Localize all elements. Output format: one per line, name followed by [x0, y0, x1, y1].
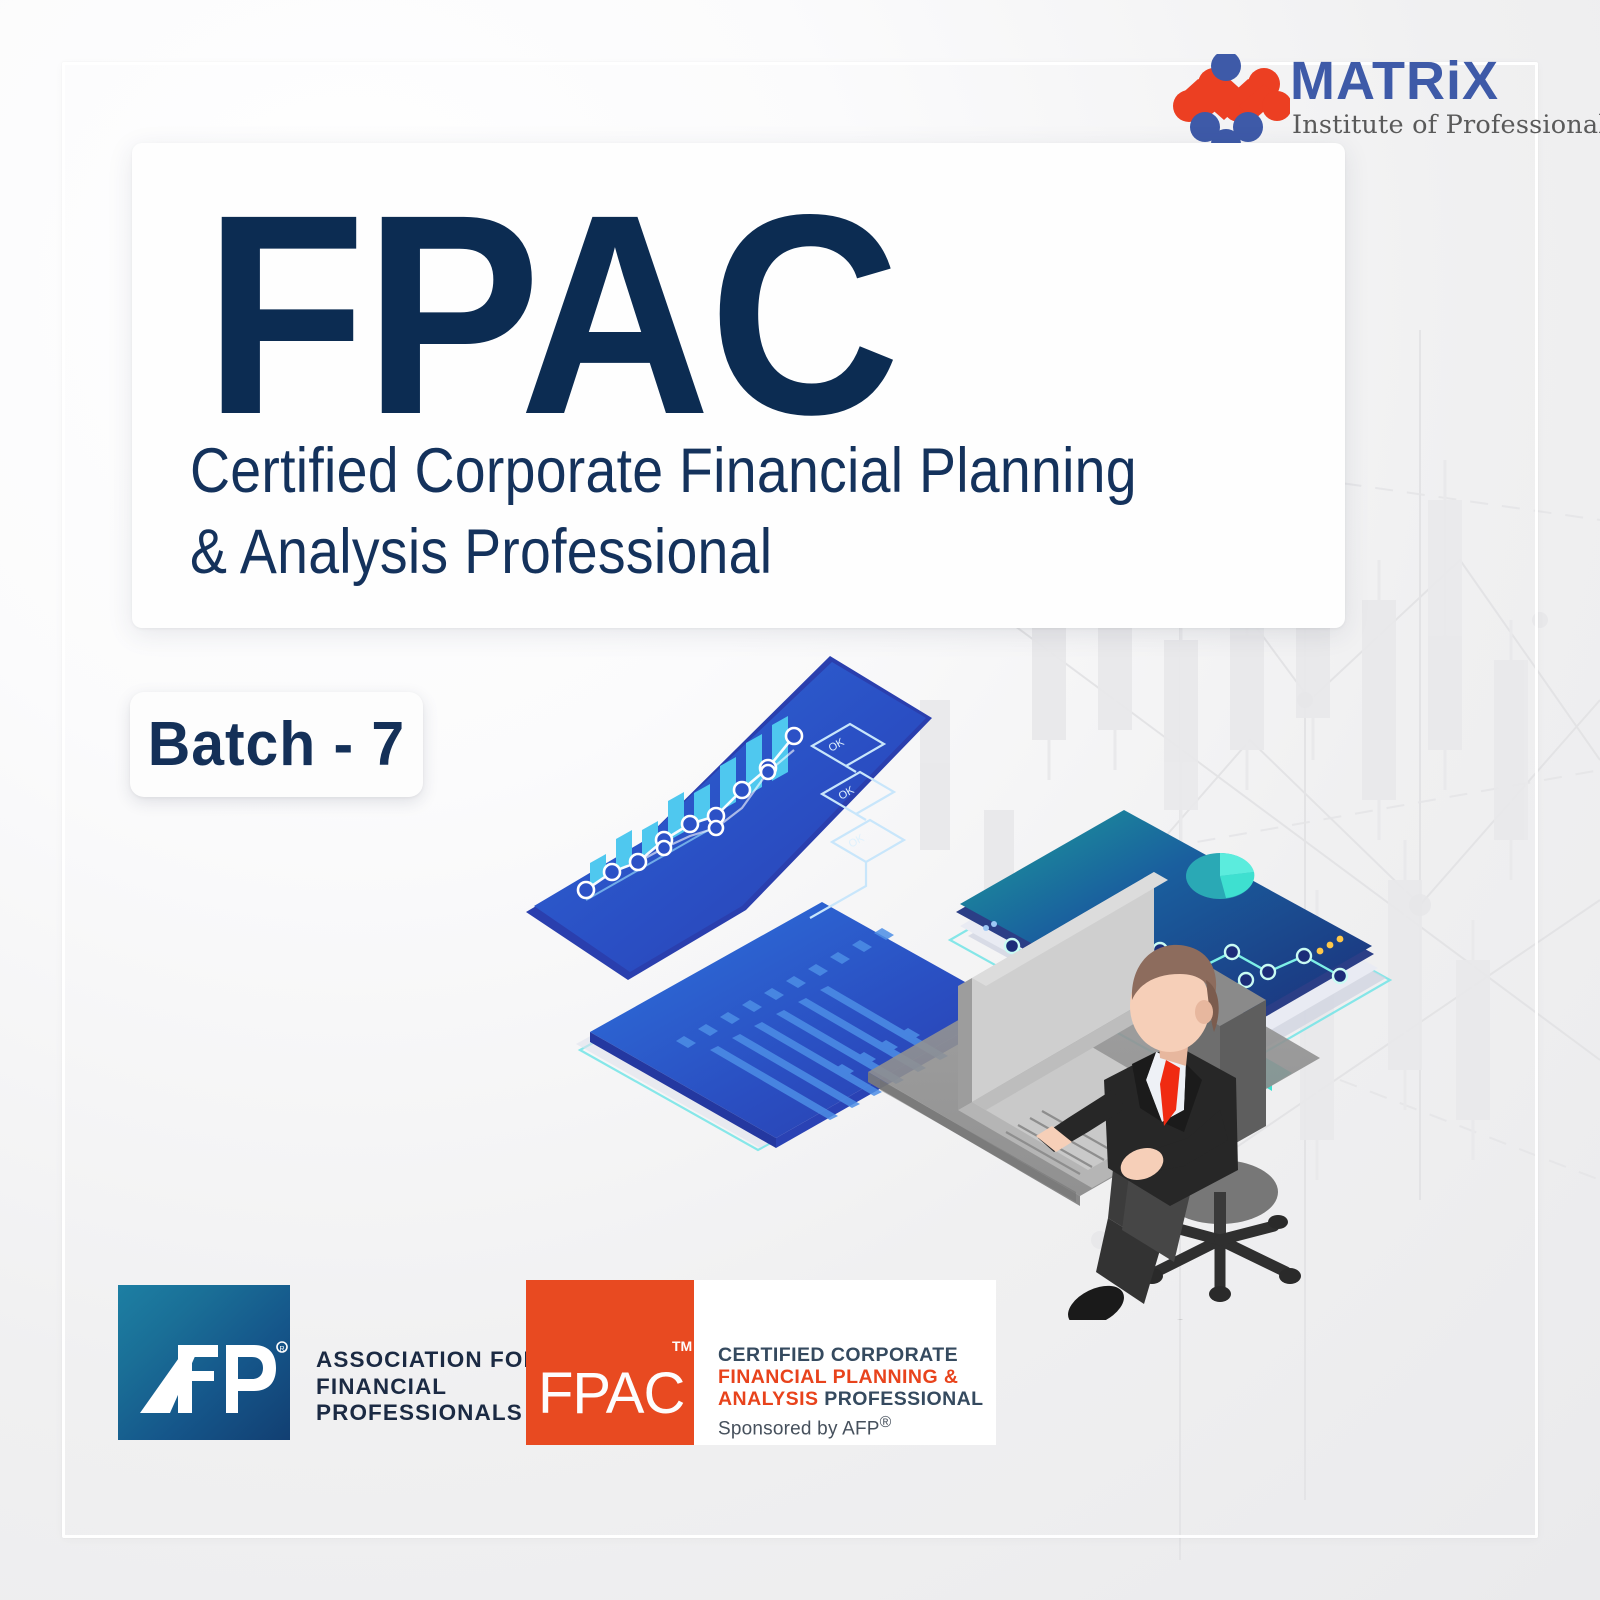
svg-text:OK: OK: [847, 832, 867, 851]
fpac-sponsor-label: Sponsored by AFP: [718, 1418, 880, 1439]
fpac-desc-line3-dark: PROFESSIONAL: [818, 1388, 983, 1410]
matrix-logo-mark: [1172, 54, 1290, 146]
page-subtitle: Certified Corporate Financial Planning &…: [190, 431, 1193, 593]
matrix-wordmark-text: MATRiX: [1290, 51, 1499, 111]
title-card: FPAC Certified Corporate Financial Plann…: [132, 143, 1345, 628]
batch-badge: Batch - 7: [130, 692, 423, 797]
fpac-logo-mark-text: FPAC: [538, 1360, 684, 1427]
afp-logo: R: [118, 1285, 290, 1440]
afp-logo-mark: R: [118, 1285, 290, 1440]
batch-badge-label: Batch - 7: [148, 709, 405, 780]
fpac-desc-line2: FINANCIAL PLANNING &: [718, 1366, 958, 1388]
fpac-certification-logo: FPAC TM CERTIFIED CORPORATE FINANCIAL PL…: [526, 1280, 996, 1445]
afp-organization-name: ASSOCIATION FOR FINANCIAL PROFESSIONALS: [316, 1347, 541, 1427]
tablet-pie-chart: [1186, 853, 1254, 899]
matrix-wordmark: MATRiX: [1290, 50, 1522, 112]
footer-logos: R ASSOCIATION FOR FINANCIAL PROFESSIONAL…: [118, 1285, 998, 1440]
matrix-logo: MATRiX Institute of Professionals: [1172, 50, 1520, 155]
matrix-tagline: Institute of Professionals: [1292, 110, 1600, 140]
fpac-description: CERTIFIED CORPORATE FINANCIAL PLANNING &…: [718, 1344, 1000, 1410]
fpac-sponsor-text: Sponsored by AFP®: [718, 1414, 892, 1440]
fpac-trademark-symbol: TM: [672, 1338, 692, 1354]
workspace-illustration: OK OK OK: [520, 640, 1480, 1320]
fpac-sponsor-registered: ®: [880, 1414, 892, 1431]
fpac-desc-line3-orange: ANALYSIS: [718, 1388, 818, 1410]
fpac-desc-line1: CERTIFIED CORPORATE: [718, 1344, 958, 1366]
svg-text:R: R: [279, 1346, 284, 1353]
page-title: FPAC: [204, 165, 898, 465]
